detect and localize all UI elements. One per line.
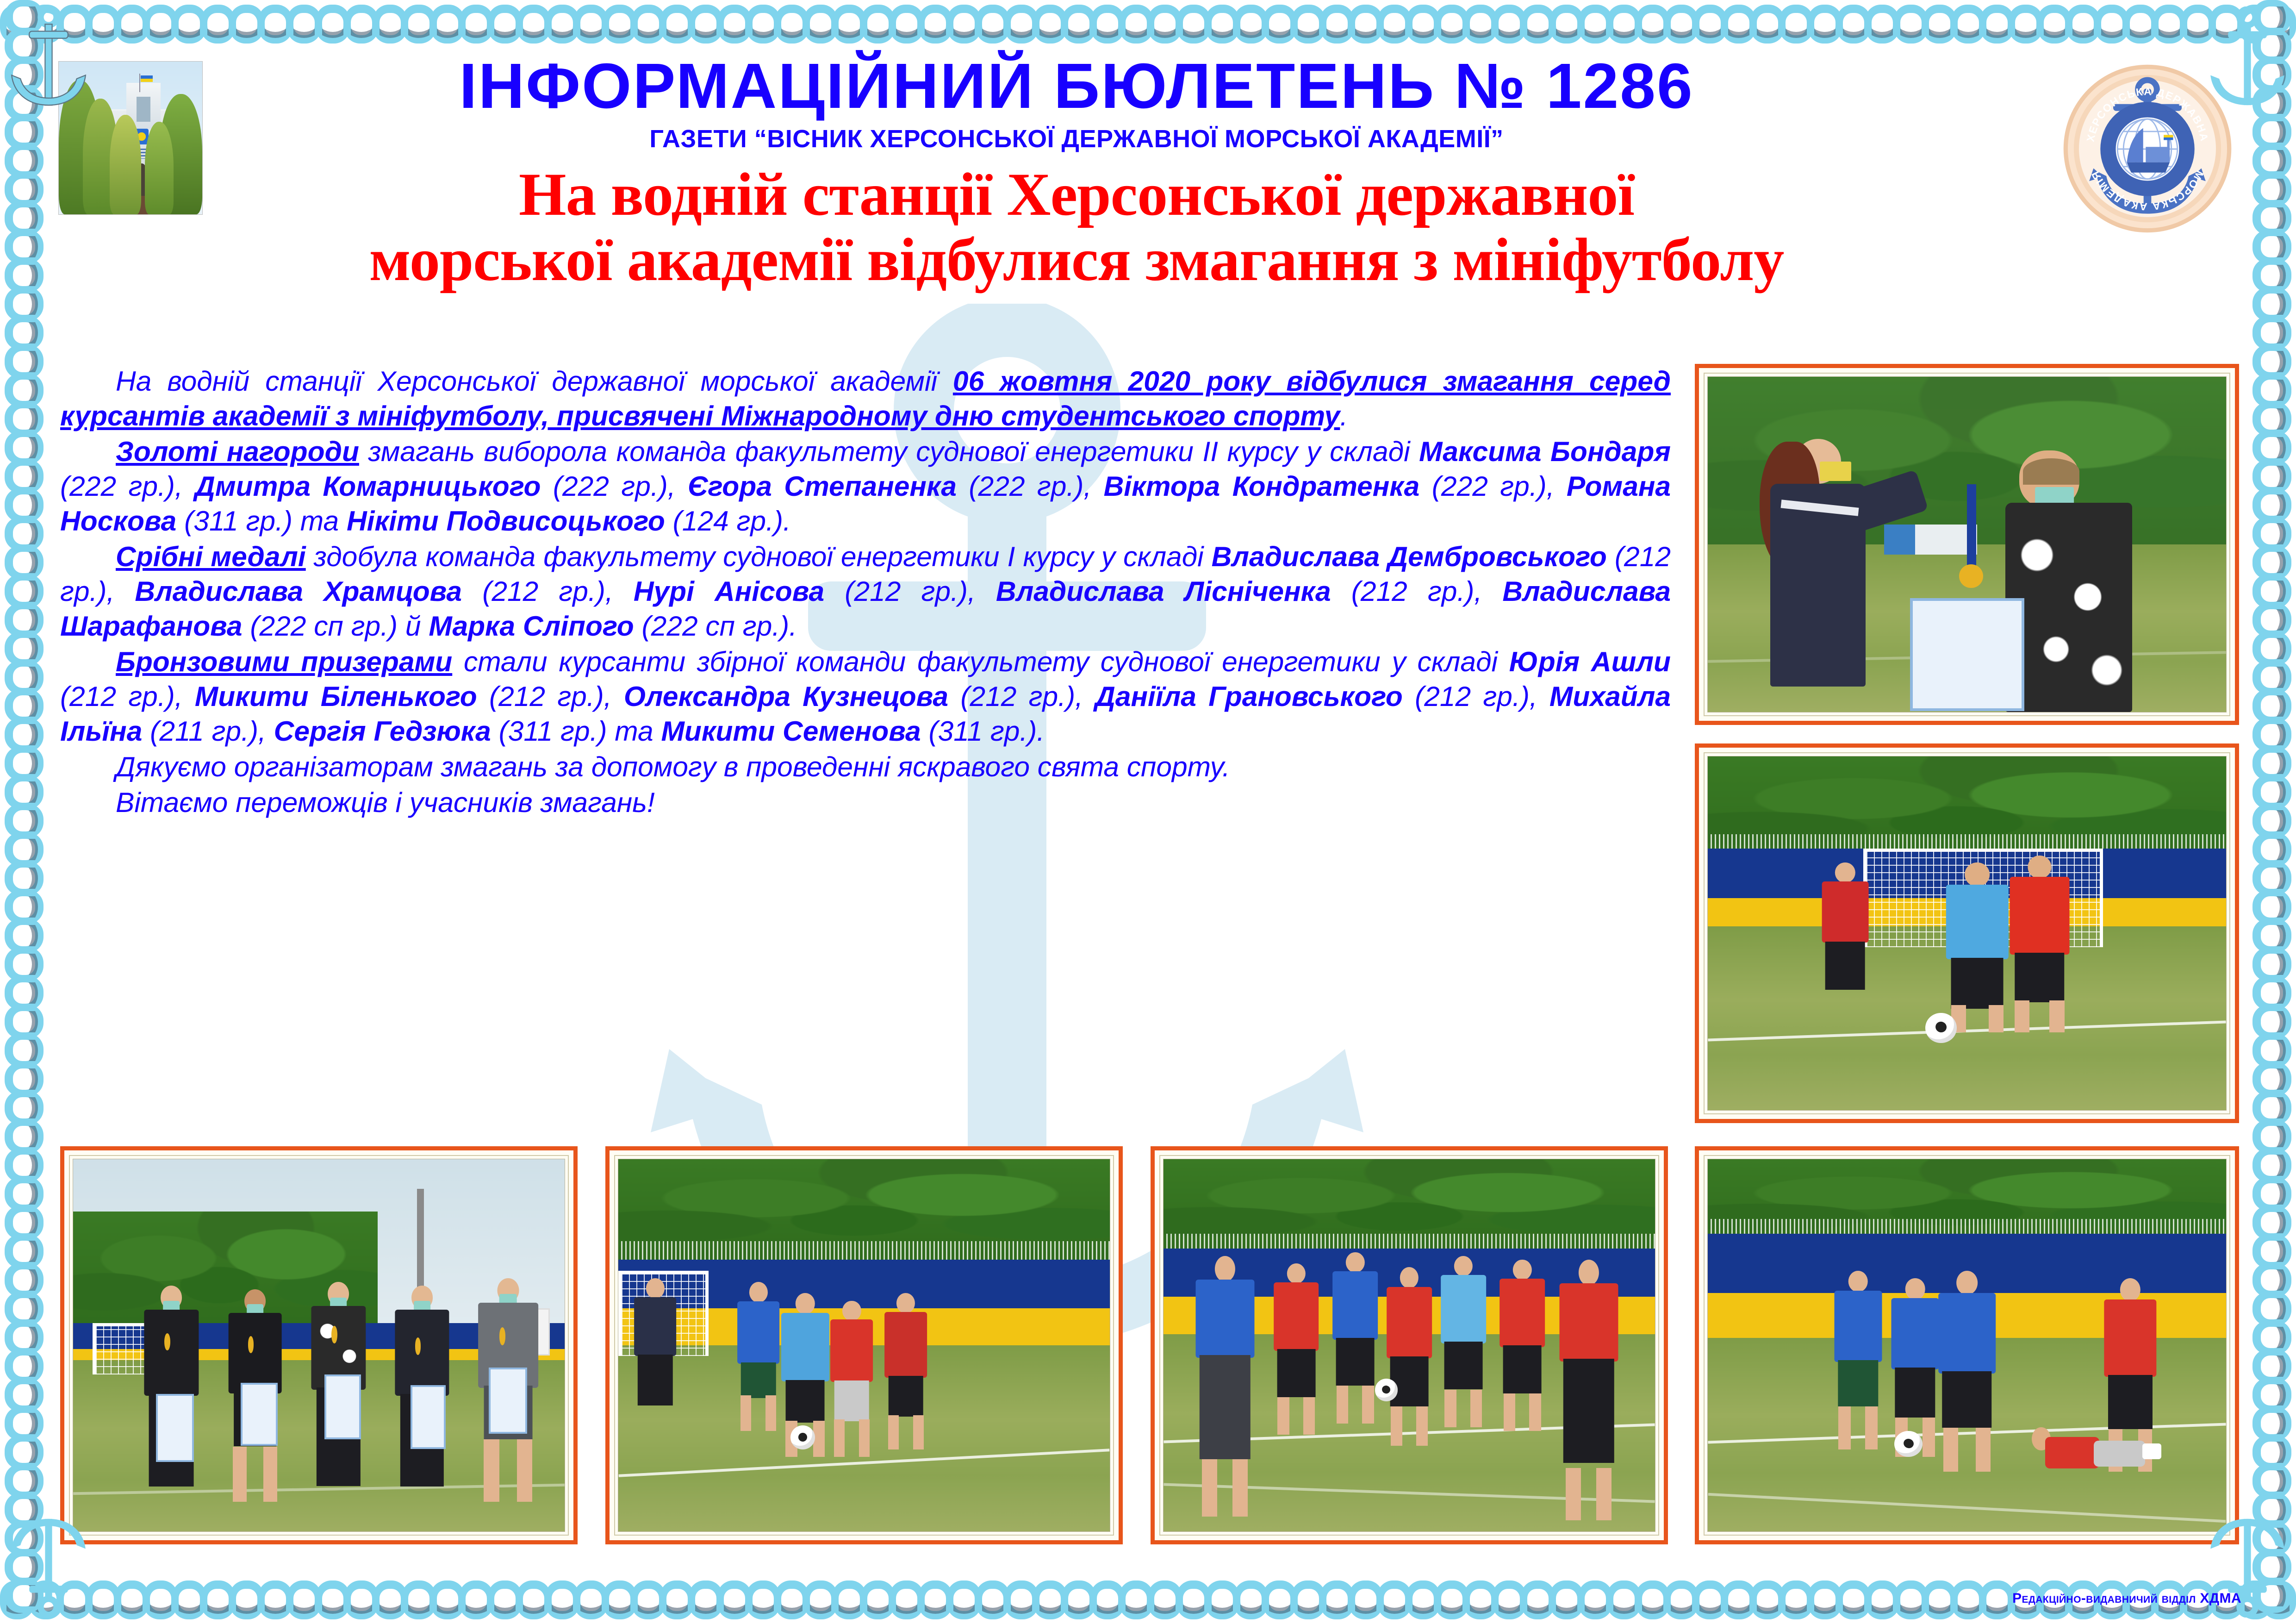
article-text-run: Микити Семенова [661, 715, 921, 747]
article-paragraph-gold: Золоті нагороди змагань виборола команда… [60, 434, 1671, 538]
article-text-run: (212 гр.), [1403, 681, 1549, 712]
corner-anchor-icon-top-left [5, 6, 93, 118]
bulletin-subtitle: ГАЗЕТИ “ВІСНИК ХЕРСОНСЬКОЇ ДЕРЖАВНОЇ МОР… [239, 125, 1914, 153]
article-text-run: Микити Біленького [195, 681, 477, 712]
header-text-block: ІНФОРМАЦІЙНИЙ БЮЛЕТЕНЬ № 1286 ГАЗЕТИ “ВІ… [239, 54, 1914, 292]
article-text-run: Дмитра Комарницького [195, 470, 541, 502]
chain-border-bottom [0, 1580, 2296, 1620]
ukraine-flag-icon [141, 75, 153, 82]
article-text-run: (222 гр.), [541, 470, 688, 502]
article-text-run: (212 гр.), [60, 681, 195, 712]
article-text-run: (212 гр.), [824, 575, 996, 607]
article-title-line-2: морської академії відбулися змагання з м… [239, 227, 1914, 292]
tree [110, 115, 141, 214]
article-text-run: здобула команда факультету суднової енер… [306, 541, 1212, 572]
bulletin-header: ІНФОРМАЦІЙНИЙ БЮЛЕТЕНЬ № 1286 ГАЗЕТИ “ВІ… [44, 44, 2252, 350]
bulletin-title: ІНФОРМАЦІЙНИЙ БЮЛЕТЕНЬ № 1286 [239, 54, 1914, 119]
article-text-run: Золоті нагороди [116, 436, 359, 467]
article-text-run: Дякуємо організаторам змагань за допомог… [116, 751, 1230, 782]
article-paragraph-silver: Срібні медалі здобула команда факультету… [60, 539, 1671, 643]
photo-match-tackle [1695, 1146, 2239, 1544]
article-text-run: На водній станції Херсонської державної … [116, 365, 953, 397]
article-text-run: (222 гр.), [60, 470, 195, 502]
chain-border-right [2252, 0, 2292, 1624]
article-text-run: (222 гр.), [1419, 470, 1567, 502]
article-text-run: (212 гр.), [1331, 575, 1503, 607]
article-text-run: Владислава Дембровського [1212, 541, 1607, 572]
photo-flagpole [139, 74, 140, 92]
article-text-run: (124 гр.). [665, 505, 791, 537]
article-text-run: Нурі Анісова [634, 575, 824, 607]
article-text-run: Срібні медалі [116, 541, 306, 572]
article-text-run: (222 гр.), [957, 470, 1104, 502]
article-paragraph-bronze: Бронзовими призерами стали курсанти збір… [60, 644, 1671, 749]
article-text-run: (311 гр.) та [491, 715, 661, 747]
article-title-line-1: На водній станції Херсонської державної [239, 162, 1914, 227]
photo-match-goal [1695, 743, 2239, 1123]
article-text-run: Вітаємо переможців і учасників змагань! [116, 787, 655, 818]
article-text-run: Нікіти Подвисоцького [347, 505, 665, 537]
article-text-run: стали курсанти збірної команди факультет… [452, 646, 1509, 677]
article-text-run: Олександра Кузнецова [624, 681, 948, 712]
article-text-run: (222 сп гр.). [634, 610, 797, 642]
article-text-run: (212 гр.), [948, 681, 1095, 712]
article-text-run: Юрія Ашли [1509, 646, 1671, 677]
article-text-run: Владислава Храмцова [135, 575, 462, 607]
photo-match-attack [605, 1146, 1123, 1544]
article-text-run: (222 сп гр.) й [243, 610, 429, 642]
article-text-run: Максима Бондаря [1419, 436, 1671, 467]
article-text-run: Сергія Гедзюка [274, 715, 491, 747]
bulletin-page: ІНФОРМАЦІЙНИЙ БЮЛЕТЕНЬ № 1286 ГАЗЕТИ “ВІ… [44, 44, 2252, 1580]
article-text-run: (311 гр.) та [176, 505, 347, 537]
corner-anchor-icon-top-right [2203, 6, 2291, 118]
article-body: На водній станції Херсонської державної … [60, 364, 1671, 821]
article-text-run: (211 гр.), [142, 715, 274, 747]
article-text-run: . [1340, 400, 1348, 431]
article-text-run: (212 гр.), [477, 681, 624, 712]
article-text-run: Даніїла Грановського [1095, 681, 1403, 712]
article-text-run: Єгора Степаненка [688, 470, 957, 502]
article-paragraph-intro: На водній станції Херсонської державної … [60, 364, 1671, 433]
chain-border-top [0, 4, 2296, 44]
article-text-run: (311 гр.). [921, 715, 1045, 747]
photo-medal-ceremony [1695, 364, 2239, 725]
chain-border-left [4, 0, 44, 1624]
photo-match-midfield [1151, 1146, 1668, 1544]
article-text-run: Марка Сліпого [429, 610, 634, 642]
article-text-run: змагань виборола команда факультету судн… [359, 436, 1419, 467]
corner-anchor-icon-bottom-left [5, 1506, 93, 1618]
article-paragraph-thanks: Дякуємо організаторам змагань за допомог… [60, 750, 1671, 784]
article-text-run: Бронзовими призерами [116, 646, 452, 677]
tree [145, 122, 174, 214]
publisher-credit: Редакційно-видавничий відділ ХДМА [2012, 1591, 2241, 1606]
article-text-run: Віктора Кондратенка [1104, 470, 1420, 502]
article-text-run: Владислава Лісніченка [996, 575, 1331, 607]
photo-winners-team [60, 1146, 578, 1544]
article-paragraph-congrats: Вітаємо переможців і учасників змагань! [60, 785, 1671, 820]
article-title: На водній станції Херсонської державної … [239, 162, 1914, 292]
article-text-run: (212 гр.), [462, 575, 634, 607]
